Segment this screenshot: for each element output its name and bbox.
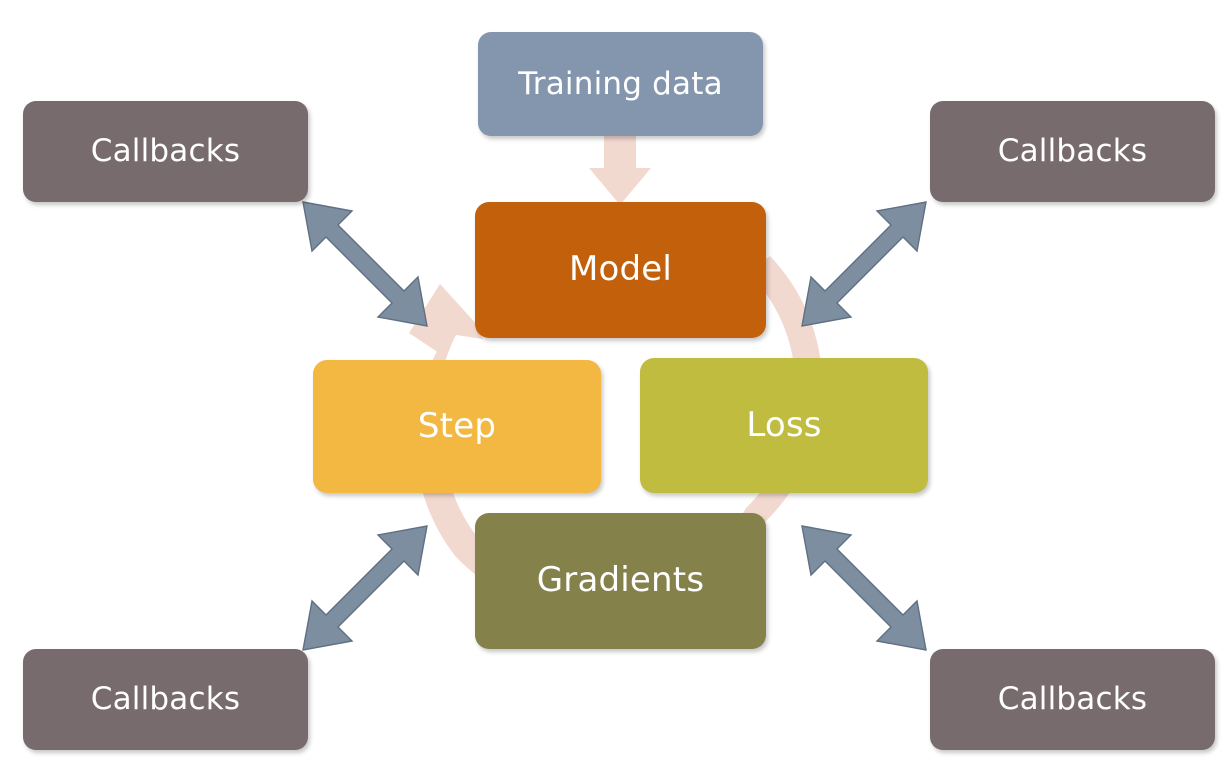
node-training-data-label: Training data xyxy=(518,67,723,101)
node-step-label: Step xyxy=(418,408,496,445)
node-callbacks-top-left-label: Callbacks xyxy=(91,134,241,168)
node-callbacks-top-left[interactable]: Callbacks xyxy=(23,101,308,202)
node-callbacks-bottom-right-label: Callbacks xyxy=(998,682,1148,716)
node-training-data[interactable]: Training data xyxy=(478,32,763,136)
callback-arrow-bottom-left[interactable] xyxy=(303,526,427,650)
node-model[interactable]: Model xyxy=(475,202,766,338)
callback-arrow-bottom-right[interactable] xyxy=(802,526,926,650)
callback-arrow-top-right[interactable] xyxy=(802,202,926,326)
node-callbacks-bottom-left-label: Callbacks xyxy=(91,682,241,716)
node-callbacks-bottom-left[interactable]: Callbacks xyxy=(23,649,308,750)
callback-arrow-top-left[interactable] xyxy=(303,202,427,326)
node-model-label: Model xyxy=(569,251,672,288)
node-callbacks-top-right-label: Callbacks xyxy=(998,134,1148,168)
diagram-canvas: Training data Model Step Loss Gradients … xyxy=(0,0,1229,777)
node-step[interactable]: Step xyxy=(313,360,601,493)
node-gradients-label: Gradients xyxy=(537,562,705,599)
node-loss[interactable]: Loss xyxy=(640,358,928,493)
node-loss-label: Loss xyxy=(746,407,821,444)
node-callbacks-bottom-right[interactable]: Callbacks xyxy=(930,649,1215,750)
node-gradients[interactable]: Gradients xyxy=(475,513,766,649)
node-callbacks-top-right[interactable]: Callbacks xyxy=(930,101,1215,202)
